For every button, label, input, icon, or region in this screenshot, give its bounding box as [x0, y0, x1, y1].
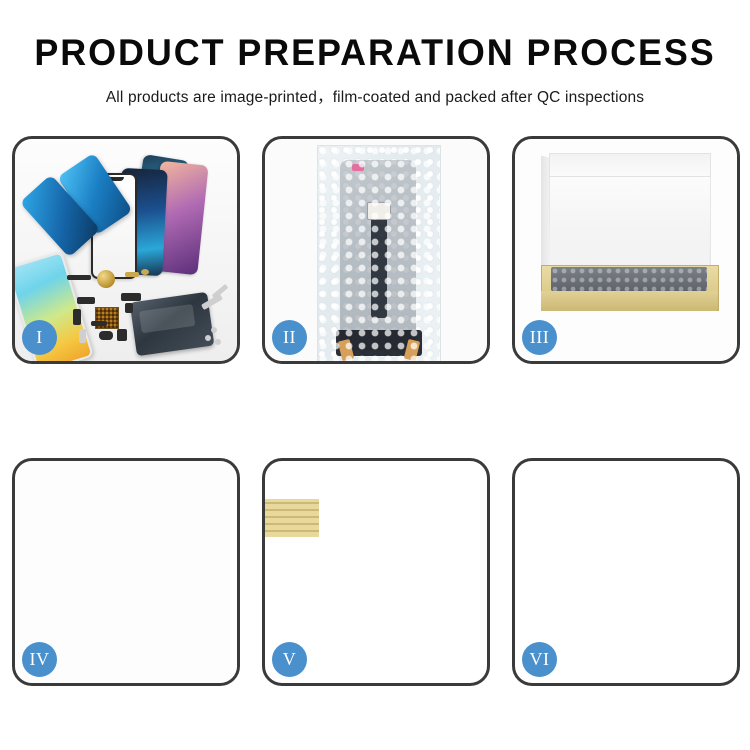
process-step-grid: I II: [12, 136, 740, 686]
process-step-4: Mobile Phone Spare Parts Mobile Phone Sp…: [12, 458, 240, 686]
page-subtitle: All products are image-printed，film-coat…: [0, 85, 750, 107]
step-badge: IV: [22, 642, 57, 677]
process-step-2: II: [262, 136, 490, 364]
page-header: PRODUCT PREPARATION PROCESS All products…: [0, 0, 750, 107]
page-title: PRODUCT PREPARATION PROCESS: [11, 34, 739, 73]
step-badge: I: [22, 320, 57, 355]
step-badge: VI: [522, 642, 557, 677]
process-step-3: III: [512, 136, 740, 364]
step-badge: V: [272, 642, 307, 677]
process-step-5: V: [262, 458, 490, 686]
process-step-6: VI: [512, 458, 740, 686]
step-badge: III: [522, 320, 557, 355]
process-step-1: I: [12, 136, 240, 364]
step-badge: II: [272, 320, 307, 355]
